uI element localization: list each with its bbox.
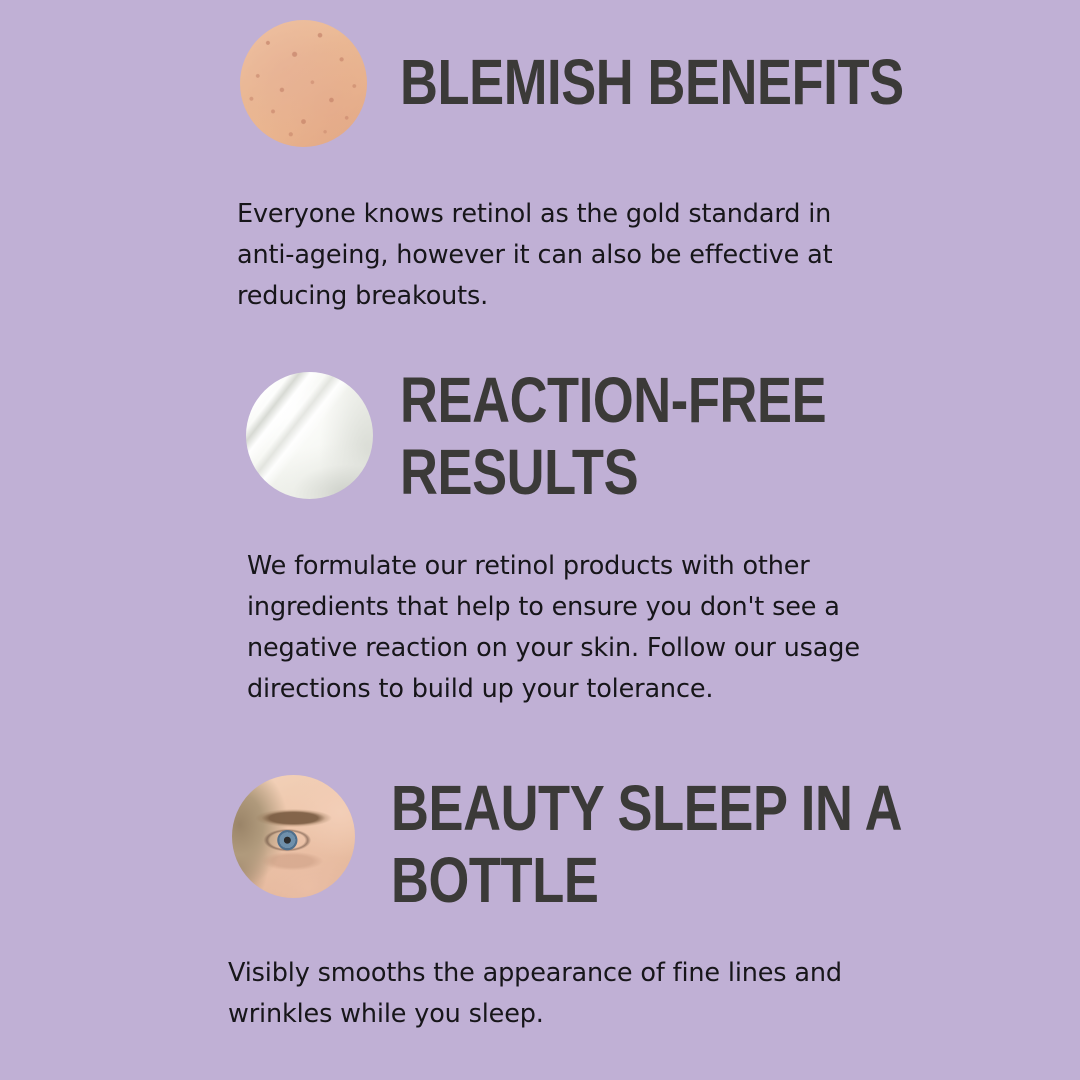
section-body-text: We formulate our retinol products with o… — [247, 546, 867, 710]
white-cream-texture-image — [246, 372, 373, 499]
blemished-skin-closeup-image — [240, 20, 367, 147]
womans-eye-closeup-image — [232, 775, 355, 898]
section-heading: REACTION-FREE RESULTS — [400, 364, 826, 508]
section-body-text: Everyone knows retinol as the gold stand… — [237, 194, 857, 317]
heading-row-1: BLEMISH BENEFITS — [400, 46, 1014, 118]
section-heading: BEAUTY SLEEP IN A BOTTLE — [391, 772, 902, 916]
section-heading: BLEMISH BENEFITS — [400, 46, 904, 118]
heading-row-2: REACTION-FREE RESULTS — [400, 364, 920, 508]
heading-row-3: BEAUTY SLEEP IN A BOTTLE — [391, 772, 1014, 916]
infographic-page: BLEMISH BENEFITS Everyone knows retinol … — [0, 0, 1080, 1080]
section-body-text: Visibly smooths the appearance of fine l… — [228, 953, 848, 1035]
